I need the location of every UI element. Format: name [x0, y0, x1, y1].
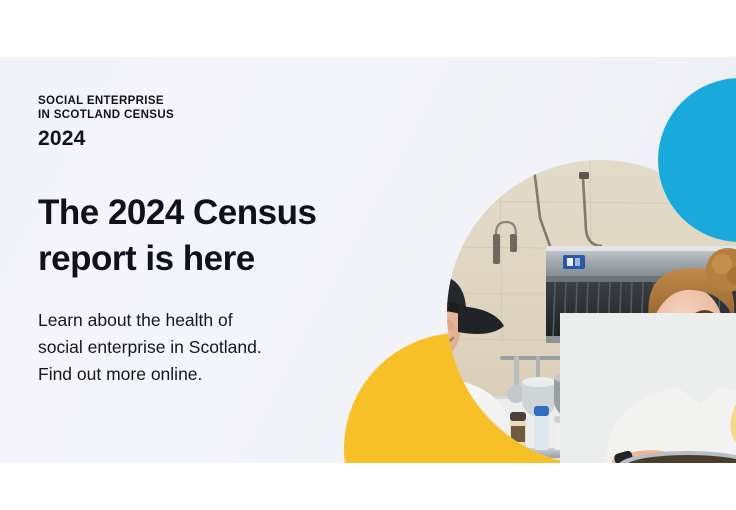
banner-text-column: SOCIAL ENTERPRISE IN SCOTLAND CENSUS 202… [38, 95, 368, 388]
headline-line-2: report is here [38, 236, 368, 282]
promo-banner: SOCIAL ENTERPRISE IN SCOTLAND CENSUS 202… [0, 0, 736, 510]
banner-subcopy: Learn about the health of social enterpr… [38, 307, 368, 388]
eyebrow-line-1: SOCIAL ENTERPRISE [38, 95, 368, 109]
eyebrow-line-2: IN SCOTLAND CENSUS [38, 109, 368, 123]
subcopy-line-3: Find out more online. [38, 361, 368, 388]
headline-line-1: The 2024 Census [38, 190, 368, 236]
subcopy-line-2: social enterprise in Scotland. [38, 334, 368, 361]
page-title: The 2024 Census report is here [38, 190, 368, 282]
kitchen-photo-extension [560, 313, 736, 463]
promo-card: SOCIAL ENTERPRISE IN SCOTLAND CENSUS 202… [0, 57, 736, 463]
subcopy-line-1: Learn about the health of [38, 307, 368, 334]
kitchen-photo-scene-extension [560, 313, 736, 463]
brand-year: 2024 [38, 126, 368, 152]
brand-eyebrow: SOCIAL ENTERPRISE IN SCOTLAND CENSUS 202… [38, 95, 368, 152]
